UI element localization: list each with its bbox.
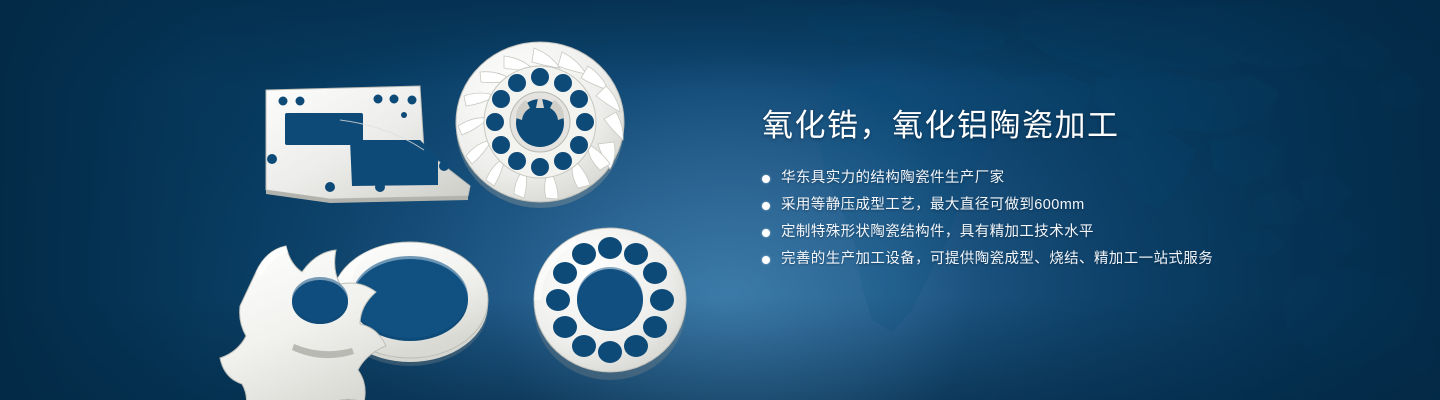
banner-copy: 氧化锆，氧化铝陶瓷加工 华东具实力的结构陶瓷件生产厂家 采用等静压成型工艺，最大… bbox=[762, 106, 1362, 276]
feature-list: 华东具实力的结构陶瓷件生产厂家 采用等静压成型工艺，最大直径可做到600mm 定… bbox=[762, 168, 1362, 270]
list-item: 定制特殊形状陶瓷结构件，具有精加工技术水平 bbox=[762, 222, 1362, 243]
list-item: 华东具实力的结构陶瓷件生产厂家 bbox=[762, 168, 1362, 189]
list-item-label: 完善的生产加工设备，可提供陶瓷成型、烧结、精加工一站式服务 bbox=[781, 249, 1213, 270]
ceramic-plate-with-cutouts bbox=[266, 86, 470, 203]
list-item-label: 华东具实力的结构陶瓷件生产厂家 bbox=[781, 168, 1005, 189]
bullet-dot-icon bbox=[762, 202, 770, 210]
page-title: 氧化锆，氧化铝陶瓷加工 bbox=[762, 106, 1362, 146]
list-item: 采用等静压成型工艺，最大直径可做到600mm bbox=[762, 195, 1362, 216]
hero-banner: 氧化锆，氧化铝陶瓷加工 华东具实力的结构陶瓷件生产厂家 采用等静压成型工艺，最大… bbox=[0, 0, 1440, 400]
ceramic-products-image bbox=[0, 0, 720, 400]
list-item-label: 采用等静压成型工艺，最大直径可做到600mm bbox=[781, 195, 1085, 216]
list-item: 完善的生产加工设备，可提供陶瓷成型、烧结、精加工一站式服务 bbox=[762, 249, 1362, 270]
ceramic-impeller-disc bbox=[456, 42, 624, 208]
ceramic-perforated-disc bbox=[534, 228, 686, 380]
bullet-dot-icon bbox=[762, 175, 770, 183]
bullet-dot-icon bbox=[762, 229, 770, 237]
list-item-label: 定制特殊形状陶瓷结构件，具有精加工技术水平 bbox=[781, 222, 1094, 243]
bullet-dot-icon bbox=[762, 256, 770, 264]
